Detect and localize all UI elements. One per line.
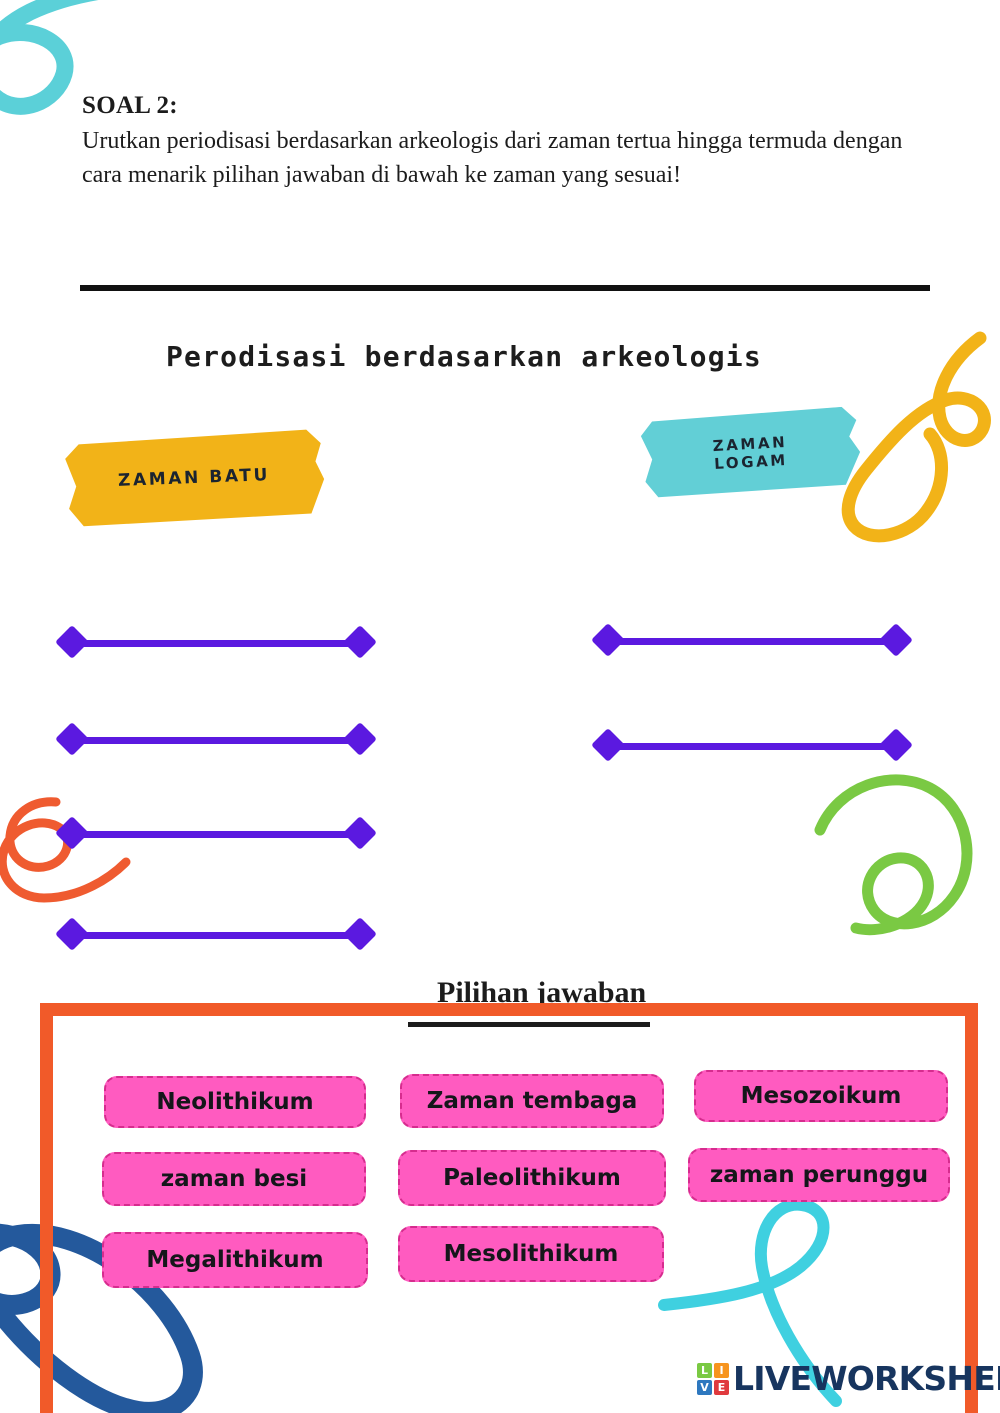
- liveworksheets-logo-tiles: LIVE: [697, 1363, 729, 1395]
- question-instruction: Urutkan periodisasi berdasarkan arkeolog…: [82, 124, 912, 192]
- logo-tile-e: E: [714, 1380, 729, 1395]
- answer-chip[interactable]: zaman besi: [102, 1152, 366, 1206]
- answer-chip[interactable]: Neolithikum: [104, 1076, 366, 1128]
- liveworksheets-logo-word: LIVEWORKSHEETS: [733, 1362, 1000, 1395]
- section-title: Perodisasi berdasarkan arkeologis: [166, 340, 762, 373]
- drop-line-bar: [72, 932, 360, 939]
- ribbon-zaman-logam: ZAMAN LOGAM: [636, 406, 865, 500]
- answer-chip-label: Mesolithikum: [444, 1241, 619, 1267]
- answer-chip[interactable]: Mesolithikum: [398, 1226, 664, 1282]
- answer-chip-label: Paleolithikum: [443, 1165, 621, 1191]
- answer-chip[interactable]: Mesozoikum: [694, 1070, 948, 1122]
- answer-chip-label: Megalithikum: [146, 1247, 323, 1273]
- question-header: SOAL 2: Urutkan periodisasi berdasarkan …: [82, 92, 922, 192]
- drop-line-left-1[interactable]: [60, 630, 372, 656]
- logo-tile-l: L: [697, 1363, 712, 1378]
- drop-line-bar: [72, 737, 360, 744]
- drop-line-handle-right[interactable]: [343, 625, 377, 659]
- logo-tile-i: I: [714, 1363, 729, 1378]
- logo-tile-v: V: [697, 1380, 712, 1395]
- ribbon-zaman-batu: ZAMAN BATU: [58, 427, 329, 529]
- worksheet-page: SOAL 2: Urutkan periodisasi berdasarkan …: [0, 0, 1000, 1413]
- drop-line-bar: [608, 638, 896, 645]
- answer-chip-label: Mesozoikum: [741, 1083, 902, 1109]
- answer-chip[interactable]: Zaman tembaga: [400, 1074, 664, 1128]
- ribbon-zaman-logam-label: ZAMAN LOGAM: [712, 433, 789, 474]
- answer-chip[interactable]: Megalithikum: [102, 1232, 368, 1288]
- drop-line-right-2[interactable]: [596, 733, 908, 759]
- drop-line-handle-left[interactable]: [591, 623, 625, 657]
- drop-line-handle-right[interactable]: [879, 728, 913, 762]
- header-divider: [80, 285, 930, 291]
- answer-chip-label: Neolithikum: [156, 1089, 313, 1115]
- drop-line-handle-left[interactable]: [55, 722, 89, 756]
- liveworksheets-logo: LIVE LIVEWORKSHEETS: [697, 1362, 1000, 1395]
- answer-chip-label: Zaman tembaga: [427, 1088, 638, 1114]
- answer-chip[interactable]: zaman perunggu: [688, 1148, 950, 1202]
- drop-line-handle-right[interactable]: [879, 623, 913, 657]
- drop-line-handle-left[interactable]: [591, 728, 625, 762]
- drop-line-handle-left[interactable]: [55, 625, 89, 659]
- ribbon-zaman-logam-line2: LOGAM: [714, 451, 789, 473]
- drop-line-left-3[interactable]: [60, 821, 372, 847]
- drop-line-handle-left[interactable]: [55, 816, 89, 850]
- drop-line-handle-right[interactable]: [343, 816, 377, 850]
- drop-line-left-2[interactable]: [60, 727, 372, 753]
- drop-line-handle-right[interactable]: [343, 722, 377, 756]
- question-label: SOAL 2:: [82, 92, 922, 120]
- drop-line-bar: [72, 831, 360, 838]
- answer-chip-group: NeolithikumZaman tembagaMesozoikumzaman …: [0, 1058, 1000, 1308]
- drop-line-bar: [608, 743, 896, 750]
- drop-line-right-1[interactable]: [596, 628, 908, 654]
- drop-line-left-4[interactable]: [60, 922, 372, 948]
- drop-line-handle-left[interactable]: [55, 917, 89, 951]
- answer-chip-label: zaman perunggu: [710, 1162, 928, 1188]
- drop-line-bar: [72, 640, 360, 647]
- answer-chip-label: zaman besi: [161, 1166, 307, 1192]
- green-spiral-right-icon: [812, 768, 1000, 958]
- answer-chip[interactable]: Paleolithikum: [398, 1150, 666, 1206]
- drop-line-handle-right[interactable]: [343, 917, 377, 951]
